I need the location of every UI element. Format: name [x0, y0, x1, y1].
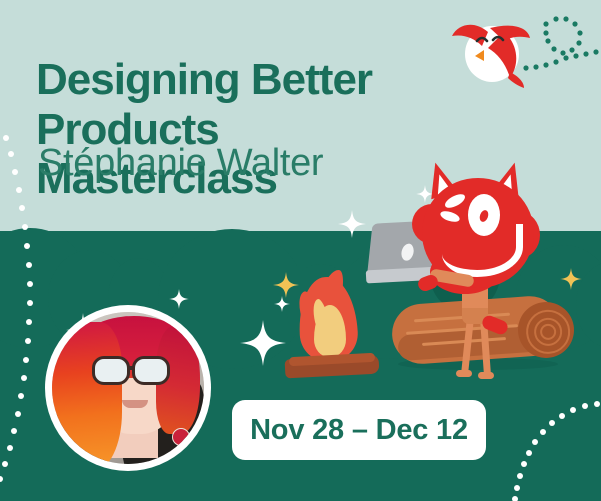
- event-poster: Designing BetterProducts Masterclass Sté…: [0, 0, 601, 501]
- fox-mascot-icon: [404, 168, 554, 368]
- avatar-glasses-right: [132, 356, 170, 385]
- date-badge[interactable]: Nov 28 – Dec 12: [232, 400, 486, 460]
- speaker-avatar-photo: [52, 312, 204, 464]
- bird-mascot-icon: [444, 14, 536, 90]
- sparkle-star-icon: [338, 210, 366, 238]
- sparkle-star-icon: [240, 320, 286, 366]
- fox-leg: [461, 318, 474, 374]
- sparkle-star-icon: [169, 289, 189, 309]
- avatar-glasses-bridge: [129, 366, 135, 370]
- campfire-icon: [291, 277, 367, 377]
- fox-foot: [456, 370, 472, 377]
- title-line-1: Designing Better: [36, 55, 372, 104]
- dotted-curve-bottom-right: [490, 400, 601, 501]
- date-badge-label: Nov 28 – Dec 12: [250, 414, 468, 447]
- sparkle-star-icon: [560, 268, 582, 290]
- fox-foot: [478, 372, 494, 379]
- avatar-mouth: [122, 400, 148, 408]
- speaker-avatar: [45, 305, 211, 471]
- sparkle-star-icon: [274, 296, 290, 312]
- avatar-jacket-pin: [172, 428, 190, 446]
- speaker-name: Stéphanie Walter: [38, 143, 323, 185]
- avatar-hair-left: [52, 322, 122, 464]
- avatar-glasses-left: [92, 356, 130, 385]
